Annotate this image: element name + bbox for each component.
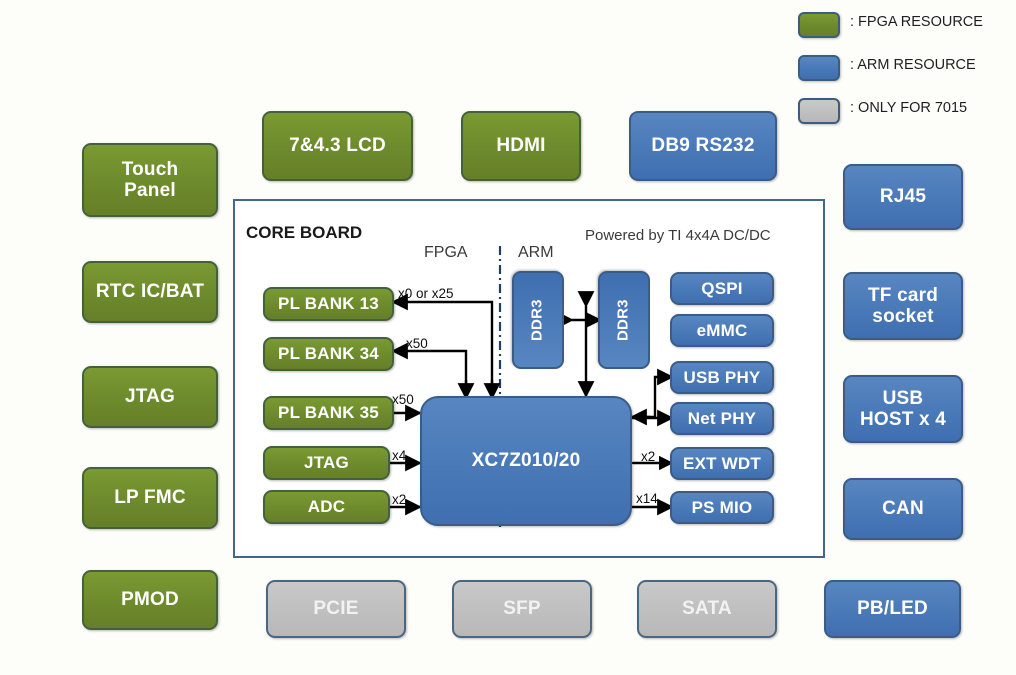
peripheral-can[interactable]: CAN [843, 478, 963, 540]
peripheral-tf-card-socket-label: TF cardsocket [868, 285, 938, 328]
arm-block-emmc[interactable]: eMMC [670, 314, 774, 347]
arm-block-ps-mio[interactable]: PS MIO [670, 491, 774, 524]
memory-ddr3-left-label: DDR3 [530, 299, 547, 341]
peripheral-lcd[interactable]: 7&4.3 LCD [262, 111, 413, 181]
peripheral-touch-panel-label: TouchPanel [122, 159, 179, 202]
peripheral-pb-led-label: PB/LED [857, 598, 928, 619]
peripheral-usb-host-label: USBHOST x 4 [860, 388, 946, 431]
peripheral-sata-label: SATA [682, 598, 732, 619]
peripheral-rj45[interactable]: RJ45 [843, 164, 963, 230]
fpga-block-pl-bank-13[interactable]: PL BANK 13 [263, 287, 394, 321]
peripheral-pmod[interactable]: PMOD [82, 570, 218, 630]
peripheral-usb-host[interactable]: USBHOST x 4 [843, 375, 963, 443]
legend-swatch-fpga [798, 12, 840, 38]
arm-block-qspi-label: QSPI [701, 279, 742, 298]
peripheral-hdmi[interactable]: HDMI [461, 111, 581, 181]
peripheral-jtag-external-label: JTAG [125, 386, 175, 407]
peripheral-lp-fmc[interactable]: LP FMC [82, 467, 218, 529]
bus-label-pl-bank-35: x50 [392, 392, 414, 407]
bus-label-pl-bank-34: x50 [406, 336, 428, 351]
legend-item-arm: : ARM RESOURCE [798, 55, 1008, 89]
fpga-block-adc[interactable]: ADC [263, 490, 390, 524]
fpga-block-pl-bank-35-label: PL BANK 35 [278, 403, 379, 422]
peripheral-sfp[interactable]: SFP [452, 580, 592, 638]
arm-block-ext-wdt[interactable]: EXT WDT [670, 447, 774, 480]
peripheral-rj45-label: RJ45 [880, 186, 926, 207]
peripheral-sfp-label: SFP [503, 598, 541, 619]
memory-ddr3-left[interactable]: DDR3 [512, 271, 564, 369]
legend-label-only7015: : ONLY FOR 7015 [850, 100, 967, 116]
peripheral-jtag-external[interactable]: JTAG [82, 366, 218, 428]
arm-side-label: ARM [518, 244, 554, 262]
peripheral-touch-panel[interactable]: TouchPanel [82, 143, 218, 217]
legend: : FPGA RESOURCE : ARM RESOURCE : ONLY FO… [798, 12, 1008, 141]
arm-block-emmc-label: eMMC [697, 321, 748, 340]
legend-item-only7015: : ONLY FOR 7015 [798, 98, 1008, 132]
memory-ddr3-right[interactable]: DDR3 [598, 271, 650, 369]
arm-block-net-phy[interactable]: Net PHY [670, 402, 774, 435]
peripheral-hdmi-label: HDMI [496, 135, 545, 156]
power-note: Powered by TI 4x4A DC/DC [585, 227, 771, 244]
peripheral-db9-rs232[interactable]: DB9 RS232 [629, 111, 777, 181]
bus-label-ps-mio: x14 [636, 491, 658, 506]
fpga-block-adc-label: ADC [308, 497, 345, 516]
peripheral-pcie-label: PCIE [313, 598, 358, 619]
legend-swatch-only7015 [798, 98, 840, 124]
bus-label-ext-wdt: x2 [641, 449, 655, 464]
bus-label-adc: x2 [392, 492, 406, 507]
fpga-block-pl-bank-13-label: PL BANK 13 [278, 294, 379, 313]
bus-label-pl-bank-13: x0 or x25 [398, 286, 454, 301]
legend-item-fpga: : FPGA RESOURCE [798, 12, 1008, 46]
core-board-title: CORE BOARD [246, 223, 362, 243]
arm-block-usb-phy[interactable]: USB PHY [670, 361, 774, 394]
peripheral-tf-card-socket[interactable]: TF cardsocket [843, 272, 963, 340]
legend-label-fpga: : FPGA RESOURCE [850, 14, 983, 30]
arm-block-ps-mio-label: PS MIO [692, 498, 753, 517]
legend-label-arm: : ARM RESOURCE [850, 57, 976, 73]
fpga-block-jtag-label: JTAG [304, 453, 349, 472]
arm-block-ext-wdt-label: EXT WDT [683, 454, 761, 473]
peripheral-sata[interactable]: SATA [637, 580, 777, 638]
arm-block-qspi[interactable]: QSPI [670, 272, 774, 305]
fpga-block-jtag[interactable]: JTAG [263, 446, 390, 480]
fpga-block-pl-bank-35[interactable]: PL BANK 35 [263, 396, 394, 430]
fpga-block-pl-bank-34-label: PL BANK 34 [278, 344, 379, 363]
peripheral-can-label: CAN [882, 498, 924, 519]
peripheral-lcd-label: 7&4.3 LCD [289, 135, 386, 156]
peripheral-pb-led[interactable]: PB/LED [824, 580, 961, 638]
fpga-side-label: FPGA [424, 244, 468, 262]
memory-ddr3-right-label: DDR3 [616, 299, 633, 341]
soc-xc7z010-20[interactable]: XC7Z010/20 [420, 396, 632, 526]
legend-swatch-arm [798, 55, 840, 81]
soc-label: XC7Z010/20 [472, 450, 581, 471]
bus-label-jtag: x4 [392, 448, 406, 463]
peripheral-pcie[interactable]: PCIE [266, 580, 406, 638]
arm-block-usb-phy-label: USB PHY [684, 368, 761, 387]
fpga-block-pl-bank-34[interactable]: PL BANK 34 [263, 337, 394, 371]
peripheral-rtc-ic-bat[interactable]: RTC IC/BAT [82, 261, 218, 323]
diagram-canvas: : FPGA RESOURCE : ARM RESOURCE : ONLY FO… [0, 0, 1016, 675]
peripheral-pmod-label: PMOD [121, 589, 179, 610]
arm-block-net-phy-label: Net PHY [688, 409, 756, 428]
peripheral-rtc-ic-bat-label: RTC IC/BAT [96, 281, 204, 302]
peripheral-db9-rs232-label: DB9 RS232 [651, 135, 754, 156]
peripheral-lp-fmc-label: LP FMC [114, 487, 186, 508]
